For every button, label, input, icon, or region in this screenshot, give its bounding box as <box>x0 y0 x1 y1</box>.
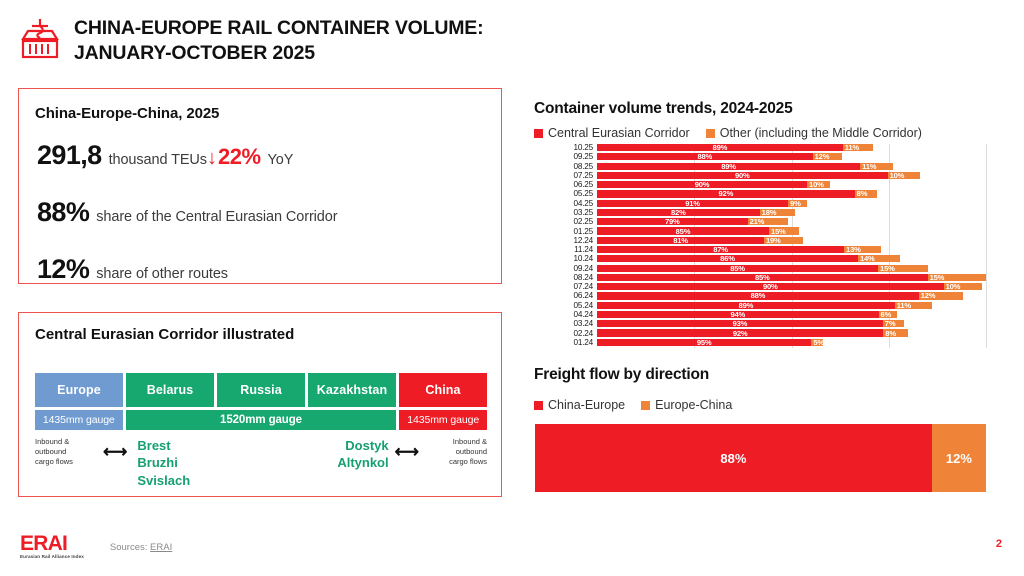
page-footer: ERAI Eurasian Rail Alliance Index Source… <box>20 533 172 560</box>
freight-chart-title: Freight flow by direction <box>534 366 709 384</box>
legend-swatch-icon <box>641 401 650 410</box>
trend-segment-other: 15% <box>769 227 799 234</box>
trend-y-axis-label: 01.24 <box>574 338 594 347</box>
trend-segment-label: 18% <box>762 208 777 217</box>
freight-flow-bar: 88% 12% <box>535 424 986 492</box>
trend-y-axis-label: 11.24 <box>574 245 593 254</box>
trend-bar-row: 09.2485%15% <box>597 265 986 272</box>
sources-link[interactable]: ERAI <box>150 542 172 553</box>
trend-segment-other: 12% <box>919 292 963 299</box>
legend-item-1[interactable]: Europe-China <box>641 398 732 412</box>
bidirectional-arrow-icon-west: ⟷ <box>103 437 127 499</box>
trend-segment-cec: 87% <box>597 246 844 253</box>
trend-segment-label: 15% <box>880 264 895 273</box>
trend-segment-label: 92% <box>719 189 734 198</box>
cec-share-value: 88% <box>37 197 89 228</box>
trend-segment-label: 12% <box>921 291 936 300</box>
trend-segment-label: 13% <box>846 245 861 254</box>
erai-logo: ERAI Eurasian Rail Alliance Index <box>20 533 84 560</box>
bidirectional-arrow-icon-east: ⟷ <box>395 437 419 499</box>
trend-segment-label: 7% <box>885 319 896 328</box>
trend-segment-label: 93% <box>733 319 748 328</box>
volume-unit: thousand TEUs <box>109 152 207 168</box>
trend-segment-label: 88% <box>698 152 713 161</box>
corridor-country-kazakhstan: Kazakhstan <box>308 373 396 407</box>
trend-bar-row: 12.2481%19% <box>597 237 986 244</box>
trend-segment-label: 88% <box>751 291 766 300</box>
trend-segment-other: 13% <box>844 246 881 253</box>
trend-segment-label: 95% <box>697 338 712 347</box>
trend-bar-row: 01.2495%5% <box>597 339 986 346</box>
legend-label: Central Eurasian Corridor <box>548 126 690 140</box>
legend-swatch-icon <box>534 129 543 138</box>
trend-chart-title: Container volume trends, 2024-2025 <box>534 100 793 118</box>
trend-y-axis-label: 07.25 <box>574 171 594 180</box>
stations-east: Dostyk Altynkol <box>337 437 388 499</box>
trend-segment-label: 94% <box>730 310 745 319</box>
corridor-gauge-2: 1435mm gauge <box>399 410 487 430</box>
trend-segment-cec: 89% <box>597 163 860 170</box>
trend-segment-other: 18% <box>760 209 796 216</box>
other-share-label: share of other routes <box>96 266 228 282</box>
trend-y-axis-label: 07.24 <box>574 282 594 291</box>
trend-segment-other: 6% <box>879 311 897 318</box>
trend-bar-row: 01.2585%15% <box>597 227 986 234</box>
erai-logo-word: ERAI <box>20 533 84 554</box>
trend-y-axis-label: 03.25 <box>574 208 594 217</box>
trend-bar-row: 09.2588%12% <box>597 153 986 160</box>
trend-segment-label: 10% <box>890 171 905 180</box>
trend-bar-row: 02.2579%21% <box>597 218 986 225</box>
trend-segment-cec: 85% <box>597 274 928 281</box>
other-share-value: 12% <box>37 254 89 285</box>
trend-segment-cec: 91% <box>597 200 788 207</box>
trend-segment-cec: 92% <box>597 329 883 336</box>
trend-bar-row: 03.2582%18% <box>597 209 986 216</box>
trend-segment-label: 92% <box>733 329 748 338</box>
trend-segment-other: 10% <box>944 283 983 290</box>
trend-segment-other: 10% <box>807 181 830 188</box>
legend-swatch-icon <box>534 401 543 410</box>
trend-segment-label: 9% <box>790 199 801 208</box>
corridor-gauge-1: 1520mm gauge <box>126 410 397 430</box>
trend-segment-label: 81% <box>673 236 688 245</box>
trend-segment-other: 19% <box>764 237 803 244</box>
trend-bar-row: 06.2590%10% <box>597 181 986 188</box>
trend-bar-row: 04.2494%6% <box>597 311 986 318</box>
trend-segment-label: 21% <box>750 217 765 226</box>
trend-bar-row: 11.2487%13% <box>597 246 986 253</box>
stat-row-cec-share: 88% share of the Central Eurasian Corrid… <box>37 197 501 228</box>
trend-segment-label: 19% <box>766 236 781 245</box>
trend-segment-label: 5% <box>813 338 824 347</box>
trend-segment-label: 15% <box>771 227 786 236</box>
stats-card-title: China-Europe-China, 2025 <box>35 105 501 122</box>
trend-segment-cec: 94% <box>597 311 879 318</box>
trend-segment-cec: 85% <box>597 265 878 272</box>
trend-segment-label: 15% <box>930 273 945 282</box>
trend-chart-plot: 10.2589%11%09.2588%12%08.2589%11%07.2590… <box>597 144 986 348</box>
trend-bar-row: 05.2489%11% <box>597 302 986 309</box>
trend-segment-cec: 85% <box>597 227 769 234</box>
shipping-container-icon <box>18 17 62 63</box>
trend-segment-cec: 89% <box>597 302 895 309</box>
trend-segment-cec: 82% <box>597 209 760 216</box>
trend-y-axis-label: 06.25 <box>574 180 594 189</box>
corridor-country-row: EuropeBelarusRussiaKazakhstanChina <box>35 373 487 407</box>
trend-segment-other: 21% <box>748 218 788 225</box>
trend-segment-other: 12% <box>813 153 842 160</box>
trend-segment-cec: 92% <box>597 190 855 197</box>
trend-segment-cec: 79% <box>597 218 748 225</box>
trend-segment-label: 89% <box>721 162 736 171</box>
trend-segment-cec: 95% <box>597 339 811 346</box>
corridor-gauge-row: 1435mm gauge1520mm gauge1435mm gauge <box>35 410 487 430</box>
trend-y-axis-label: 03.24 <box>574 319 594 328</box>
freight-segment-europe-china: 12% <box>932 424 986 492</box>
trend-segment-label: 91% <box>685 199 700 208</box>
trend-segment-other: 10% <box>888 172 920 179</box>
trend-segment-label: 11% <box>862 162 876 171</box>
stat-row-volume: 291,8 thousand TEUs ↓ 22% YoY <box>37 140 501 171</box>
trend-segment-label: 85% <box>676 227 691 236</box>
trend-bar-row: 04.2591%9% <box>597 200 986 207</box>
corridor-gauge-0: 1435mm gauge <box>35 410 123 430</box>
trend-bar-row: 08.2485%15% <box>597 274 986 281</box>
trend-segment-cec: 88% <box>597 292 919 299</box>
trend-y-axis-label: 05.25 <box>574 189 594 198</box>
corridor-diagram-card: Central Eurasian Corridor illustrated Eu… <box>18 312 502 497</box>
corridor-card-title: Central Eurasian Corridor illustrated <box>35 326 501 343</box>
freight-chart-legend: China-EuropeEurope-China <box>534 398 741 412</box>
trend-segment-label: 6% <box>881 310 892 319</box>
trend-segment-label: 10% <box>946 282 961 291</box>
trend-segment-label: 89% <box>739 301 754 310</box>
corridor-country-russia: Russia <box>217 373 305 407</box>
trend-segment-other: 11% <box>843 144 873 151</box>
trend-y-axis-label: 12.24 <box>574 236 594 245</box>
legend-item-0[interactable]: Central Eurasian Corridor <box>534 126 690 140</box>
trend-chart: 10.2589%11%09.2588%12%08.2589%11%07.2590… <box>534 144 986 356</box>
trend-segment-cec: 81% <box>597 237 764 244</box>
trend-segment-cec: 89% <box>597 144 843 151</box>
stations-west: Brest Bruzhi Svislach <box>137 437 190 499</box>
flow-note-west: Inbound & outbound cargo flows <box>35 437 97 499</box>
gridline <box>986 144 987 348</box>
legend-item-1[interactable]: Other (including the Middle Corridor) <box>706 126 922 140</box>
page-number: 2 <box>996 538 1002 550</box>
trend-segment-other: 15% <box>928 274 986 281</box>
trend-y-axis-label: 05.24 <box>574 301 594 310</box>
trend-segment-label: 8% <box>885 329 896 338</box>
legend-swatch-icon <box>706 129 715 138</box>
legend-label: Other (including the Middle Corridor) <box>720 126 922 140</box>
trend-segment-label: 82% <box>671 208 686 217</box>
trend-segment-cec: 90% <box>597 283 944 290</box>
trend-y-axis-label: 08.24 <box>574 273 594 282</box>
trend-segment-other: 5% <box>811 339 822 346</box>
corridor-country-china: China <box>399 373 487 407</box>
trend-bar-row: 06.2488%12% <box>597 292 986 299</box>
freight-segment-china-europe: 88% <box>535 424 932 492</box>
summary-stats-card: China-Europe-China, 2025 291,8 thousand … <box>18 88 502 284</box>
trend-chart-legend: Central Eurasian CorridorOther (includin… <box>534 126 931 140</box>
trend-bar-row: 07.2490%10% <box>597 283 986 290</box>
yoy-value: 22% <box>218 144 261 170</box>
trend-segment-label: 11% <box>845 143 859 152</box>
legend-item-0[interactable]: China-Europe <box>534 398 625 412</box>
trend-y-axis-label: 10.24 <box>574 254 594 263</box>
corridor-country-europe: Europe <box>35 373 123 407</box>
trend-segment-other: 15% <box>878 265 928 272</box>
sources-line: Sources: ERAI <box>110 533 172 553</box>
trend-segment-label: 79% <box>665 217 680 226</box>
trend-segment-label: 10% <box>809 180 824 189</box>
sources-label: Sources: <box>110 542 148 553</box>
trend-segment-label: 89% <box>713 143 728 152</box>
trend-y-axis-label: 06.24 <box>574 291 594 300</box>
page-header: CHINA-EUROPE RAIL CONTAINER VOLUME: JANU… <box>18 14 618 76</box>
legend-label: China-Europe <box>548 398 625 412</box>
trend-segment-label: 85% <box>755 273 770 282</box>
trend-bar-row: 10.2589%11% <box>597 144 986 151</box>
trend-y-axis-label: 10.25 <box>574 143 594 152</box>
trend-segment-label: 14% <box>860 254 875 263</box>
trend-bar-row: 05.2592%8% <box>597 190 986 197</box>
trend-segment-label: 90% <box>695 180 710 189</box>
trend-segment-other: 11% <box>895 302 932 309</box>
trend-bar-row: 03.2493%7% <box>597 320 986 327</box>
cec-share-label: share of the Central Eurasian Corridor <box>96 209 337 225</box>
yoy-down-arrow-icon: ↓ <box>207 147 217 170</box>
trend-segment-other: 7% <box>883 320 905 327</box>
legend-label: Europe-China <box>655 398 732 412</box>
trend-segment-label: 85% <box>730 264 745 273</box>
flow-note-east: Inbound & outbound cargo flows <box>425 437 487 499</box>
corridor-flow-row: Inbound & outbound cargo flows ⟷ Brest B… <box>35 437 487 499</box>
trend-y-axis-label: 02.25 <box>574 217 594 226</box>
trend-segment-cec: 88% <box>597 153 813 160</box>
page-title: CHINA-EUROPE RAIL CONTAINER VOLUME: JANU… <box>74 14 483 66</box>
trend-segment-label: 8% <box>857 189 868 198</box>
trend-segment-cec: 90% <box>597 181 807 188</box>
trend-y-axis-label: 02.24 <box>574 329 594 338</box>
erai-logo-subtitle: Eurasian Rail Alliance Index <box>20 555 84 560</box>
corridor-country-belarus: Belarus <box>126 373 214 407</box>
trend-segment-other: 8% <box>883 329 908 336</box>
trend-segment-label: 90% <box>763 282 778 291</box>
trend-segment-cec: 90% <box>597 172 888 179</box>
trend-y-axis-label: 04.24 <box>574 310 594 319</box>
volume-value: 291,8 <box>37 140 102 171</box>
trend-segment-other: 11% <box>860 163 893 170</box>
trend-bar-row: 07.2590%10% <box>597 172 986 179</box>
trend-y-axis-label: 09.24 <box>574 264 594 273</box>
trend-bar-row: 02.2492%8% <box>597 329 986 336</box>
trend-segment-cec: 86% <box>597 255 858 262</box>
trend-y-axis-label: 09.25 <box>574 152 594 161</box>
yoy-label: YoY <box>268 152 294 168</box>
trend-segment-other: 9% <box>788 200 807 207</box>
trend-segment-label: 90% <box>735 171 750 180</box>
stat-row-other-share: 12% share of other routes <box>37 254 501 285</box>
trend-segment-cec: 93% <box>597 320 883 327</box>
trend-segment-other: 14% <box>858 255 900 262</box>
trend-segment-label: 87% <box>713 245 728 254</box>
trend-bar-row: 10.2486%14% <box>597 255 986 262</box>
trend-segment-label: 11% <box>897 301 911 310</box>
trend-bar-row: 08.2589%11% <box>597 163 986 170</box>
trend-y-axis-label: 01.25 <box>574 227 594 236</box>
trend-segment-label: 86% <box>720 254 735 263</box>
trend-y-axis-label: 08.25 <box>574 162 594 171</box>
trend-y-axis-label: 04.25 <box>574 199 594 208</box>
corridor-diagram: EuropeBelarusRussiaKazakhstanChina 1435m… <box>35 373 487 499</box>
trend-segment-label: 12% <box>815 152 830 161</box>
trend-segment-other: 8% <box>855 190 877 197</box>
